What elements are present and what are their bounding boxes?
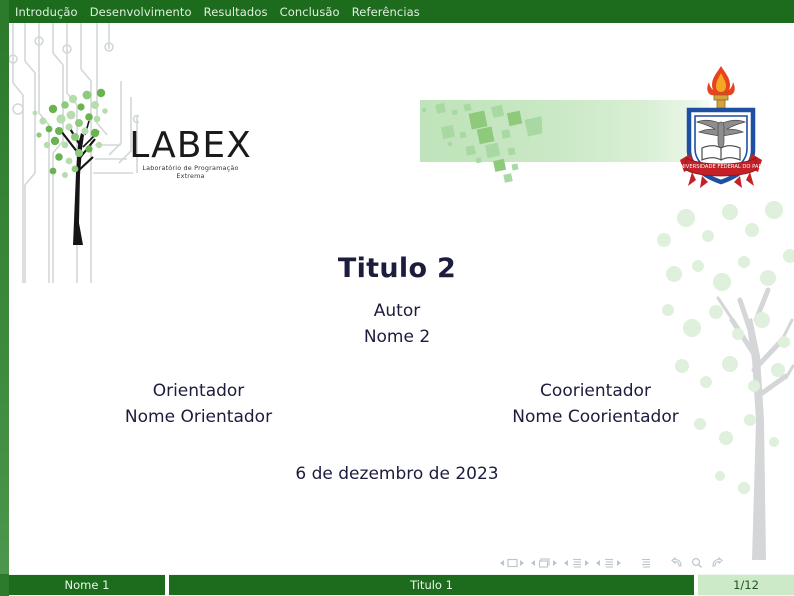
frame-nav-group[interactable] xyxy=(531,558,557,569)
torch-cup xyxy=(714,95,728,100)
labex-subtitle: Laboratório de Programação Extrema xyxy=(128,164,253,180)
circuit-tree-decoration xyxy=(9,23,139,283)
footer-page-number: 1/12 xyxy=(698,574,794,596)
advisor-role: Orientador xyxy=(0,378,397,404)
author-role: Autor xyxy=(0,298,794,324)
next-subsection-icon[interactable] xyxy=(585,560,589,566)
ribbon-text: UNIVERSIDADE FEDERAL DO PARÁ xyxy=(677,163,766,170)
book-icon xyxy=(702,146,740,160)
page-title: Titulo 2 xyxy=(0,252,794,286)
navbar-left-edge xyxy=(0,0,9,23)
subsection-icon[interactable] xyxy=(571,558,583,569)
previous-section-icon[interactable] xyxy=(596,560,600,566)
previous-slide-icon[interactable] xyxy=(500,560,504,566)
flame-icon xyxy=(707,66,734,96)
labex-logo: LABEX Laboratório de Programação Extrema xyxy=(128,126,253,182)
previous-subsection-icon[interactable] xyxy=(564,560,568,566)
footer-author: Nome 1 xyxy=(9,574,165,596)
ghost-tree-svg xyxy=(634,170,794,570)
section-navigation-bar: Introdução Desenvolvimento Resultados Co… xyxy=(0,0,794,23)
ghost-tree-watermark xyxy=(634,170,794,570)
slide-icon[interactable] xyxy=(507,558,518,568)
pixel-squares-decoration xyxy=(412,98,542,184)
footer-bar: Nome 1 Titulo 1 1/12 xyxy=(0,574,794,596)
tree-leaves xyxy=(33,89,108,178)
presentation-slide: Introdução Desenvolvimento Resultados Co… xyxy=(0,0,794,596)
nav-item-referencias[interactable]: Referências xyxy=(352,5,420,19)
next-frame-icon[interactable] xyxy=(553,560,557,566)
frame-icon[interactable] xyxy=(538,558,551,569)
nav-item-conclusao[interactable]: Conclusão xyxy=(280,5,340,19)
back-arrow-icon[interactable] xyxy=(671,557,684,569)
previous-frame-icon[interactable] xyxy=(531,560,535,566)
document-icon[interactable] xyxy=(640,558,652,569)
circuit-tree-svg xyxy=(9,23,139,283)
footer-left-edge xyxy=(0,574,9,596)
presentation-date: 6 de dezembro de 2023 xyxy=(0,464,794,484)
search-icon[interactable] xyxy=(691,557,703,569)
next-section-icon[interactable] xyxy=(617,560,621,566)
section-icon[interactable] xyxy=(603,558,615,569)
subsection-nav-group[interactable] xyxy=(564,558,589,569)
coadvisor-role: Coorientador xyxy=(397,378,794,404)
next-slide-icon[interactable] xyxy=(520,560,524,566)
navbar-items: Introdução Desenvolvimento Resultados Co… xyxy=(9,5,420,19)
forward-arrow-icon[interactable] xyxy=(710,557,723,569)
beamer-navigation-symbols xyxy=(500,555,723,571)
section-nav-group[interactable] xyxy=(596,558,621,569)
advisor-name: Nome Orientador xyxy=(0,404,397,430)
title-block: Titulo 2 Autor Nome 2 xyxy=(0,252,794,350)
author-name: Nome 2 xyxy=(0,324,794,350)
nav-item-resultados[interactable]: Resultados xyxy=(204,5,268,19)
advisors-row: Orientador Nome Orientador Coorientador … xyxy=(0,378,794,430)
nav-item-desenvolvimento[interactable]: Desenvolvimento xyxy=(90,5,192,19)
slide-nav-group[interactable] xyxy=(500,558,524,568)
coadvisor-column: Coorientador Nome Coorientador xyxy=(397,378,794,430)
footer-title: Titulo 1 xyxy=(169,574,694,596)
labex-wordmark: LABEX xyxy=(128,126,253,166)
advisor-column: Orientador Nome Orientador xyxy=(0,378,397,430)
coadvisor-name: Nome Coorientador xyxy=(397,404,794,430)
nav-item-introducao[interactable]: Introdução xyxy=(15,5,78,19)
